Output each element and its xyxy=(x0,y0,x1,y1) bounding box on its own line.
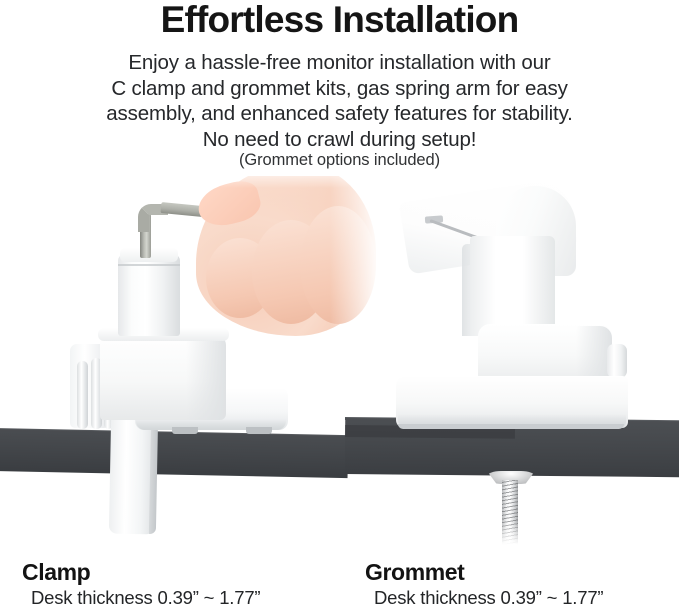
page-title: Effortless Installation xyxy=(0,0,679,42)
hand-right-fade xyxy=(330,176,400,339)
clamp-post-seam xyxy=(118,264,180,266)
product-illustration xyxy=(0,176,679,550)
grommet-base-plate-edge xyxy=(398,424,624,429)
grommet-bolt-fade xyxy=(499,521,522,550)
caption-clamp: Clamp Desk thickness 0.39” ~ 1.77” xyxy=(22,558,260,610)
clamp-mounting-post xyxy=(118,254,180,336)
description-line-4: No need to crawl during setup! xyxy=(0,127,679,153)
description-line-2: C clamp and grommet kits, gas spring arm… xyxy=(0,76,679,102)
clamp-main-body-shadow xyxy=(186,336,226,420)
caption-clamp-spec: Desk thickness 0.39” ~ 1.77” xyxy=(22,586,260,610)
clamp-foot-pad-1 xyxy=(172,427,198,434)
description-line-1: Enjoy a hassle-free monitor installation… xyxy=(0,50,679,76)
hand-top-fade xyxy=(190,176,390,188)
description-line-3: assembly, and enhanced safety features f… xyxy=(0,101,679,127)
description-paragraph: Enjoy a hassle-free monitor installation… xyxy=(0,50,679,152)
clamp-foot-pad-2 xyxy=(246,427,272,434)
clamp-rib-1 xyxy=(77,361,88,429)
grommet-adjust-knob xyxy=(607,344,627,378)
grommet-arm-column xyxy=(470,236,555,336)
grommet-options-note: (Grommet options included) xyxy=(0,151,679,170)
caption-grommet: Grommet Desk thickness 0.39” ~ 1.77” xyxy=(365,558,603,610)
caption-grommet-spec: Desk thickness 0.39” ~ 1.77” xyxy=(365,586,603,610)
clamp-vertical-bracket-edge xyxy=(149,416,158,534)
product-feature-panel: Effortless Installation Enjoy a hassle-f… xyxy=(0,0,679,610)
desk-left-edge xyxy=(0,429,348,478)
caption-clamp-title: Clamp xyxy=(22,558,260,586)
caption-grommet-title: Grommet xyxy=(365,558,603,586)
